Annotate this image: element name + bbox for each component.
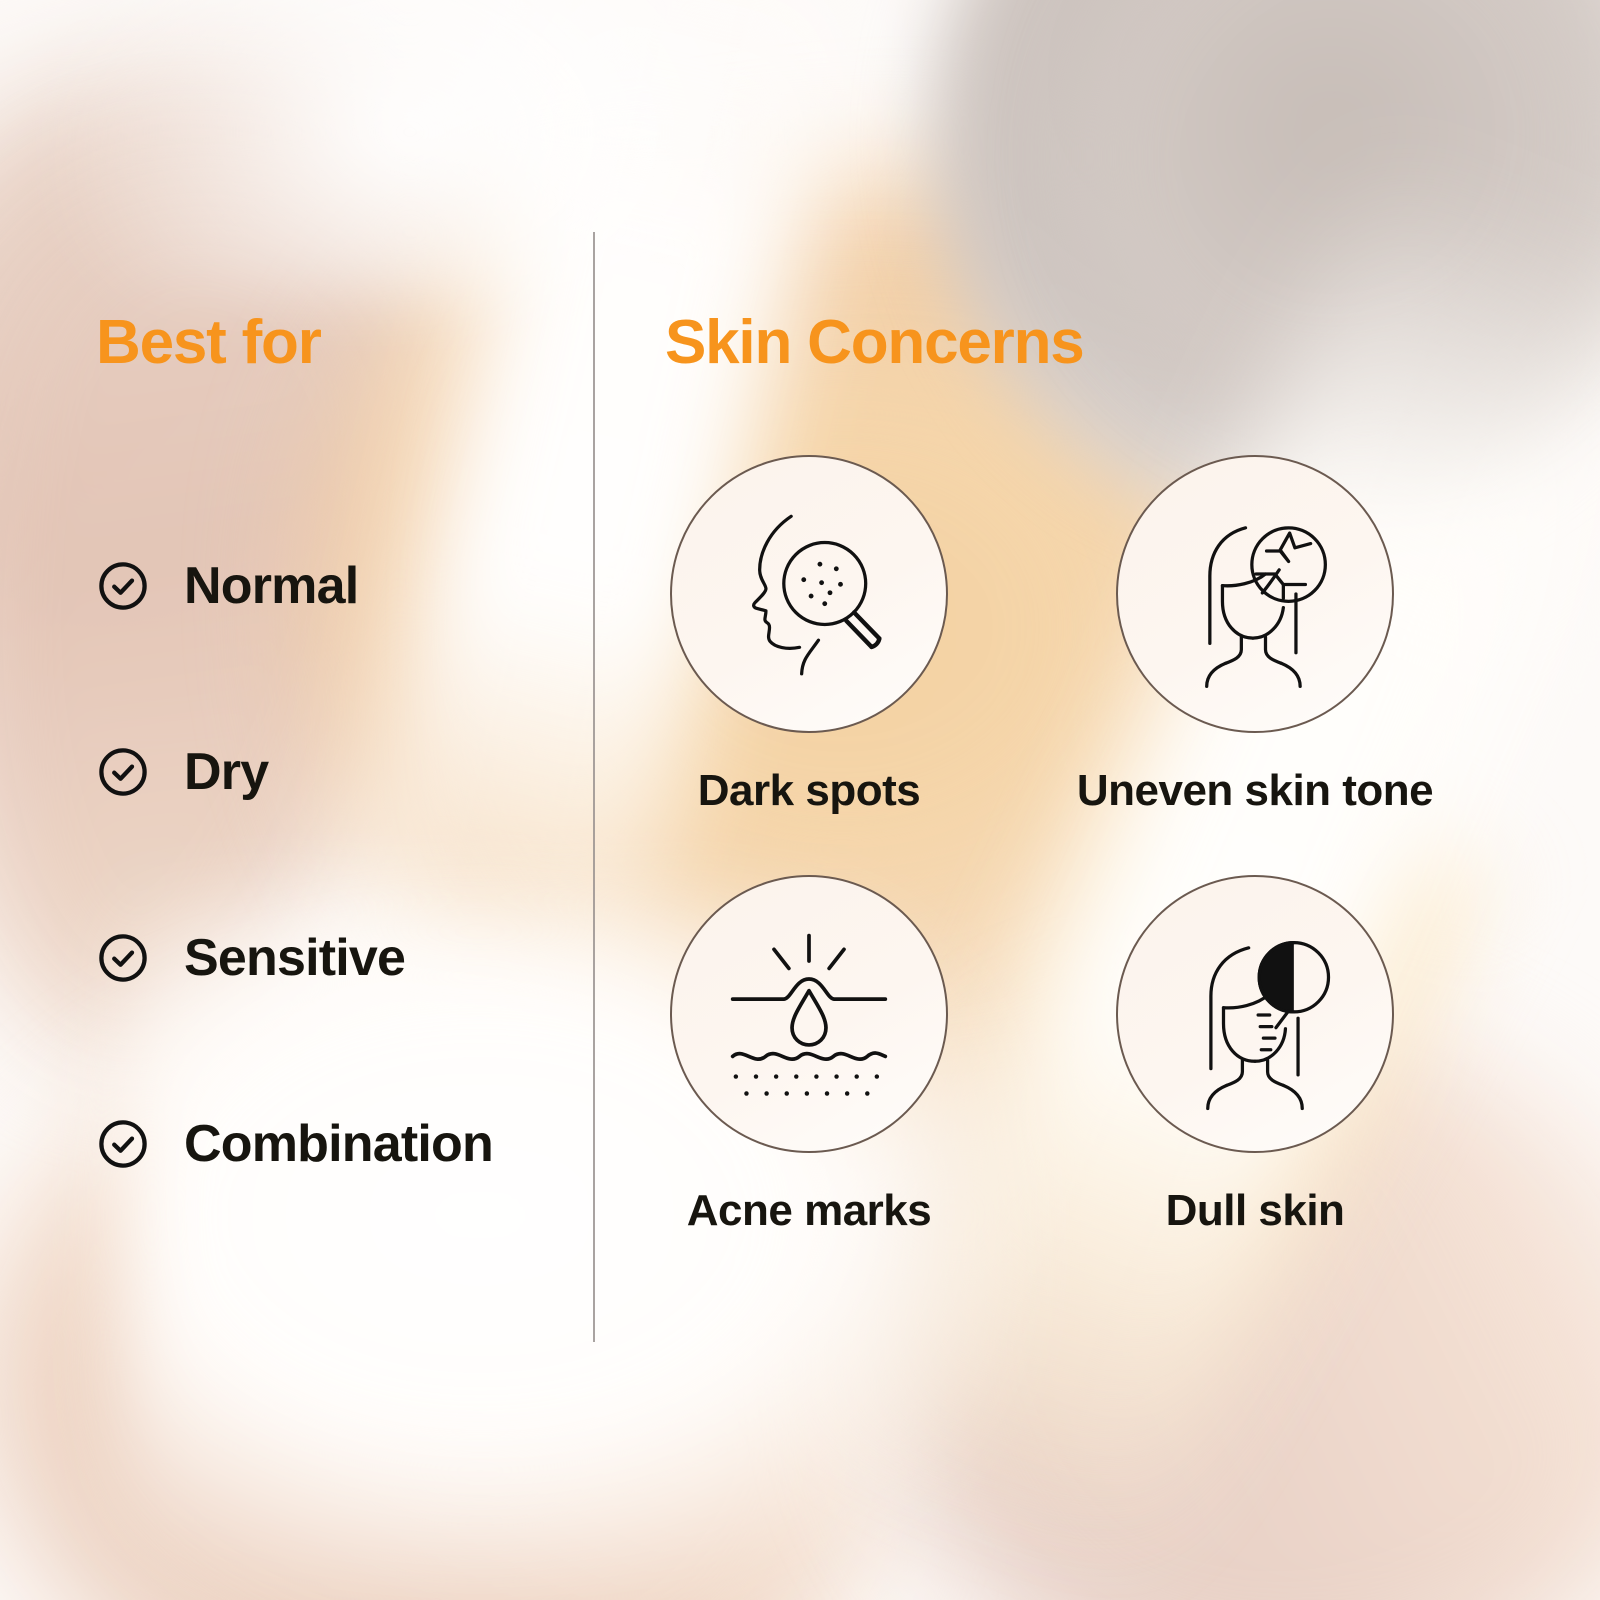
best-for-item-dry: Dry <box>96 726 616 818</box>
best-for-heading: Best for <box>96 312 566 374</box>
icon-frame <box>670 875 948 1153</box>
icon-frame <box>1116 455 1394 733</box>
circle-check-icon <box>96 931 150 985</box>
skin-concern-dark-spots: Dark spots <box>665 455 953 813</box>
best-for-label: Normal <box>184 560 358 612</box>
best-for-item-sensitive: Sensitive <box>96 912 616 1004</box>
circle-check-icon <box>96 1117 150 1171</box>
skin-concern-acne-marks: Acne marks <box>665 875 953 1233</box>
skin-concern-dull-skin: Dull skin <box>1111 875 1399 1233</box>
circle-check-icon <box>96 745 150 799</box>
skin-concerns-heading: Skin Concerns <box>665 312 1525 374</box>
best-for-section: Best for <box>96 312 566 374</box>
circle-check-icon <box>96 559 150 613</box>
skin-concern-uneven-skin-tone: Uneven skin tone <box>1111 455 1399 813</box>
icon-frame <box>1116 875 1394 1153</box>
skin-concern-label: Acne marks <box>687 1189 931 1233</box>
best-for-label: Sensitive <box>184 932 405 984</box>
skin-concerns-grid: Dark spots <box>665 455 1545 1233</box>
woman-patchy-tone-icon <box>1150 489 1360 699</box>
skin-layer-droplet-icon <box>703 908 915 1120</box>
woman-contrast-circle-icon <box>1150 909 1360 1119</box>
best-for-item-normal: Normal <box>96 540 616 632</box>
skin-concerns-row-2: Acne marks <box>665 875 1545 1233</box>
infographic-canvas: Best for Normal Dr <box>0 0 1600 1600</box>
skin-concern-label: Dark spots <box>698 769 920 813</box>
best-for-label: Dry <box>184 746 268 798</box>
skin-concerns-section: Skin Concerns <box>665 312 1525 374</box>
skin-concern-label: Dull skin <box>1166 1189 1345 1233</box>
skin-concern-label: Uneven skin tone <box>1077 769 1433 813</box>
skin-concerns-row-1: Dark spots <box>665 455 1545 813</box>
best-for-item-combination: Combination <box>96 1098 616 1190</box>
best-for-list: Normal Dry Sensitive <box>96 540 616 1190</box>
face-magnifier-spots-icon <box>704 489 914 699</box>
icon-frame <box>670 455 948 733</box>
best-for-label: Combination <box>184 1118 493 1170</box>
